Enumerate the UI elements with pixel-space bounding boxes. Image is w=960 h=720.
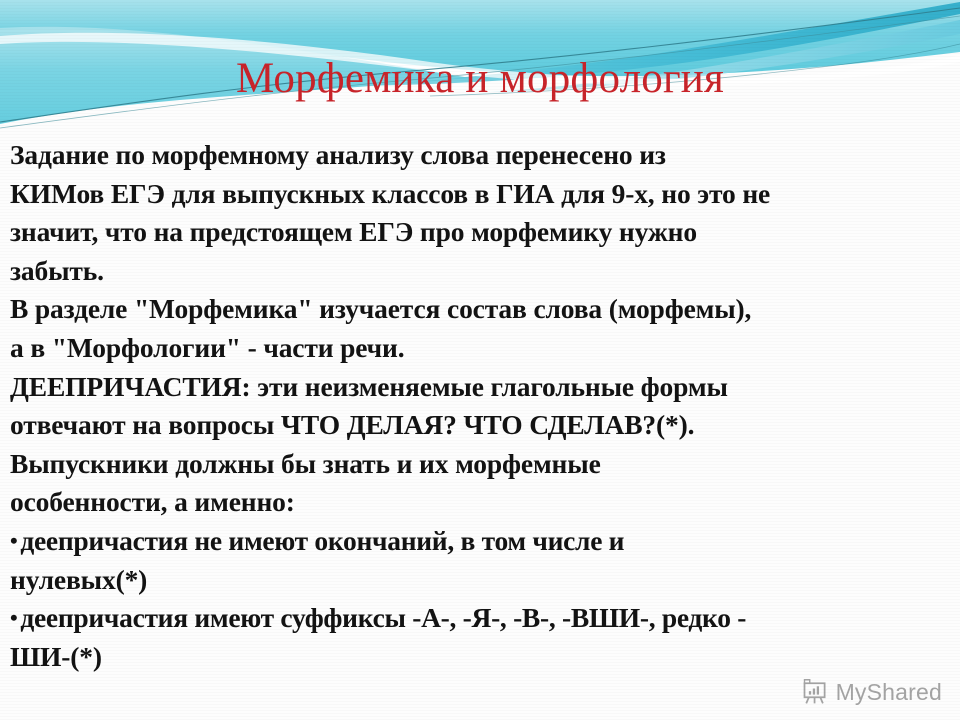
text-line: Выпускники должны бы знать и их морфемны… — [10, 445, 954, 484]
text-line: нулевых(*) — [10, 561, 954, 600]
text-line: ШИ-(*) — [10, 638, 954, 677]
myshared-watermark: MyShared — [801, 678, 942, 706]
text-line: значит, что на предстоящем ЕГЭ про морфе… — [10, 213, 954, 252]
presentation-slide: Морфемика и морфология Задание по морфем… — [0, 0, 960, 720]
text-line: забыть. — [10, 252, 954, 291]
slide-title: Морфемика и морфология — [0, 56, 960, 101]
bullet-icon: • — [10, 605, 20, 630]
text-line: КИМов ЕГЭ для выпускных классов в ГИА дл… — [10, 175, 954, 214]
text-line: особенности, а именно: — [10, 483, 954, 522]
presentation-board-icon — [801, 678, 829, 706]
bullet-list-item: •деепричастия не имеют окончаний, в том … — [10, 522, 954, 561]
text-line: отвечают на вопросы ЧТО ДЕЛАЯ? ЧТО СДЕЛА… — [10, 406, 954, 445]
text-line: Задание по морфемному анализу слова пере… — [10, 136, 954, 175]
bullet-icon: • — [10, 528, 20, 553]
slide-body: Задание по морфемному анализу слова пере… — [10, 136, 954, 676]
bullet-list-item: •деепричастия имеют суффиксы -А-, -Я-, -… — [10, 599, 954, 638]
text-line: ДЕЕПРИЧАСТИЯ: эти неизменяемые глагольны… — [10, 368, 954, 407]
text-line: В разделе "Морфемика" изучается состав с… — [10, 290, 954, 329]
bullet-item-label: деепричастия не имеют окончаний, в том ч… — [20, 525, 624, 556]
bullet-item-label: деепричастия имеют суффиксы -А-, -Я-, -В… — [20, 602, 746, 633]
text-line: а в "Морфологии" - части речи. — [10, 329, 954, 368]
watermark-label: MyShared — [836, 681, 942, 704]
